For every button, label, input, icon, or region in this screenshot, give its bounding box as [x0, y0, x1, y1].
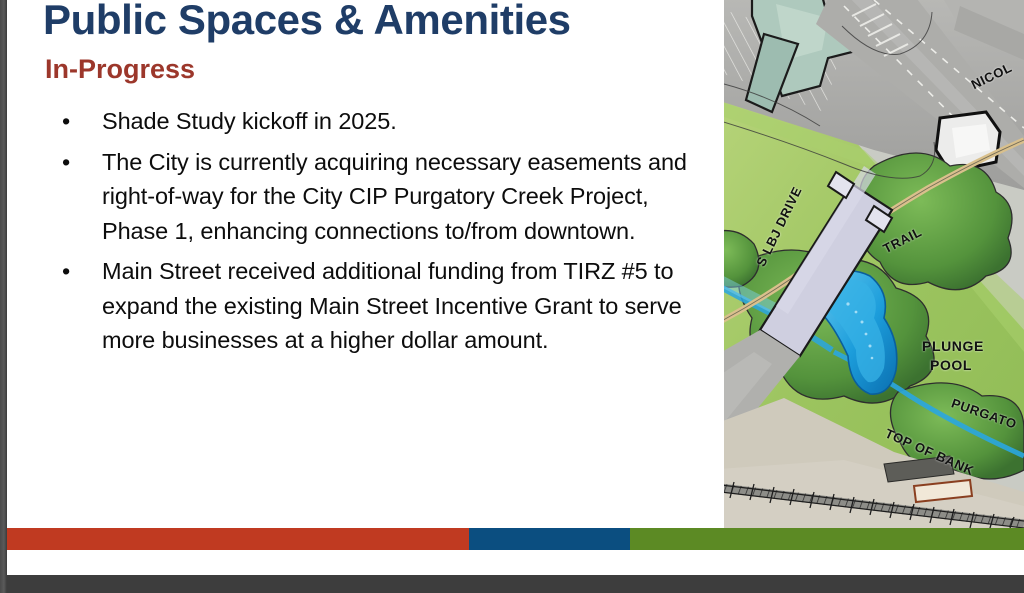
bullet-list: • Shade Study kickoff in 2025. • The Cit… [47, 104, 687, 364]
bullet-marker-icon: • [62, 254, 70, 289]
list-item-text: Main Street received additional funding … [102, 258, 682, 353]
page-title: Public Spaces & Amenities [43, 0, 571, 46]
slide-footer [7, 550, 1024, 575]
list-item: • Shade Study kickoff in 2025. [47, 104, 687, 139]
accent-bar-segment-red [7, 528, 469, 550]
bullet-marker-icon: • [62, 104, 70, 139]
list-item: • Main Street received additional fundin… [47, 254, 687, 358]
list-item-text: Shade Study kickoff in 2025. [102, 108, 397, 134]
slide-viewer: Public Spaces & Amenities In-Progress • … [0, 0, 1024, 593]
presentation-slide: Public Spaces & Amenities In-Progress • … [7, 0, 1024, 575]
list-item-text: The City is currently acquiring necessar… [102, 149, 687, 244]
accent-bar-segment-green [630, 528, 1024, 550]
accent-bar [7, 528, 1024, 550]
viewer-left-gutter [0, 0, 7, 593]
map-label-pool: POOL [930, 357, 972, 373]
bullet-marker-icon: • [62, 145, 70, 180]
list-item: • The City is currently acquiring necess… [47, 145, 687, 249]
slide-subtitle: In-Progress [45, 52, 195, 86]
map-label-plunge: PLUNGE [922, 338, 984, 354]
aerial-site-plan-image: NICOL TRAIL S LBJ DRIVE PLUNGE POOL PURG… [724, 0, 1024, 528]
accent-bar-segment-blue [469, 528, 630, 550]
